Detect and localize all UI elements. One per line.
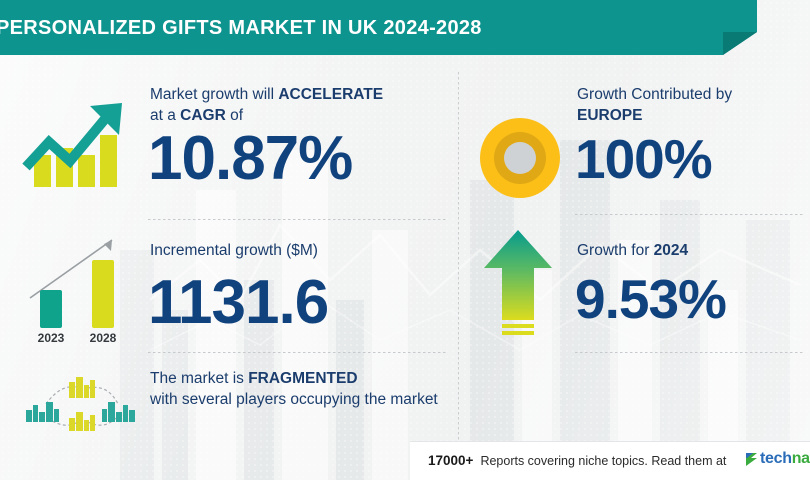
fragmentation-part2: with several players occupying the marke… — [150, 391, 438, 408]
cagr-label-part3: of — [226, 107, 243, 124]
donut-chart-icon — [478, 116, 562, 200]
incremental-growth-label: Incremental growth ($M) — [150, 240, 440, 261]
two-bar-chart-icon: 2023 2028 — [16, 232, 141, 344]
divider-right-2 — [575, 352, 803, 353]
vertical-divider — [458, 72, 459, 440]
region-contribution-value: 100% — [575, 132, 712, 187]
report-count: 17000+ — [428, 453, 473, 468]
region-label-plain: Growth Contributed by — [577, 86, 732, 103]
footer-caption: Reports covering niche topics. Read them… — [480, 454, 726, 468]
technavio-flag-icon — [744, 451, 758, 467]
infographic-page: PERSONALIZED GIFTS MARKET IN UK 2024-202… — [0, 0, 810, 480]
region-label-europe: EUROPE — [577, 107, 642, 124]
technavio-wordmark: technavio — [760, 450, 810, 468]
fragmentation-label: The market is FRAGMENTED with several pl… — [150, 368, 445, 410]
cagr-label-part2: at a — [150, 107, 180, 124]
yearly-growth-label: Growth for 2024 — [577, 240, 807, 261]
header-ribbon-fold — [723, 32, 757, 55]
fragmented-market-buildings-icon — [22, 374, 137, 434]
footer-text-group: 17000+ Reports covering niche topics. Re… — [428, 453, 726, 468]
region-contribution-label: Growth Contributed by EUROPE — [577, 84, 807, 126]
divider-right-1 — [575, 214, 803, 215]
cagr-label-accelerate: ACCELERATE — [278, 86, 383, 103]
incremental-growth-value: 1131.6 — [148, 272, 328, 334]
technavio-logo[interactable]: technavio — [744, 450, 810, 468]
yearly-growth-value: 9.53% — [575, 272, 726, 327]
page-title: PERSONALIZED GIFTS MARKET IN UK 2024-202… — [0, 17, 716, 40]
fragmentation-bold: FRAGMENTED — [248, 370, 357, 387]
up-arrow-gradient-icon — [482, 228, 554, 340]
yearly-growth-plain: Growth for — [577, 242, 654, 259]
divider-left-2 — [148, 352, 448, 353]
svg-text:2028: 2028 — [90, 331, 117, 344]
footer-bar: 17000+ Reports covering niche topics. Re… — [410, 441, 810, 480]
growth-arrow-bars-icon — [18, 93, 138, 193]
logo-text-tech: tech — [760, 450, 792, 467]
svg-text:2023: 2023 — [38, 331, 65, 344]
logo-text-navio: navio — [792, 450, 810, 467]
cagr-value: 10.87% — [148, 128, 352, 190]
fragmentation-part1: The market is — [150, 370, 248, 387]
cagr-label-cagr: CAGR — [180, 107, 226, 124]
divider-left-1 — [148, 219, 448, 220]
cagr-label: Market growth will ACCELERATE at a CAGR … — [150, 84, 440, 126]
cagr-label-part1: Market growth will — [150, 86, 278, 103]
yearly-growth-year: 2024 — [654, 242, 688, 259]
